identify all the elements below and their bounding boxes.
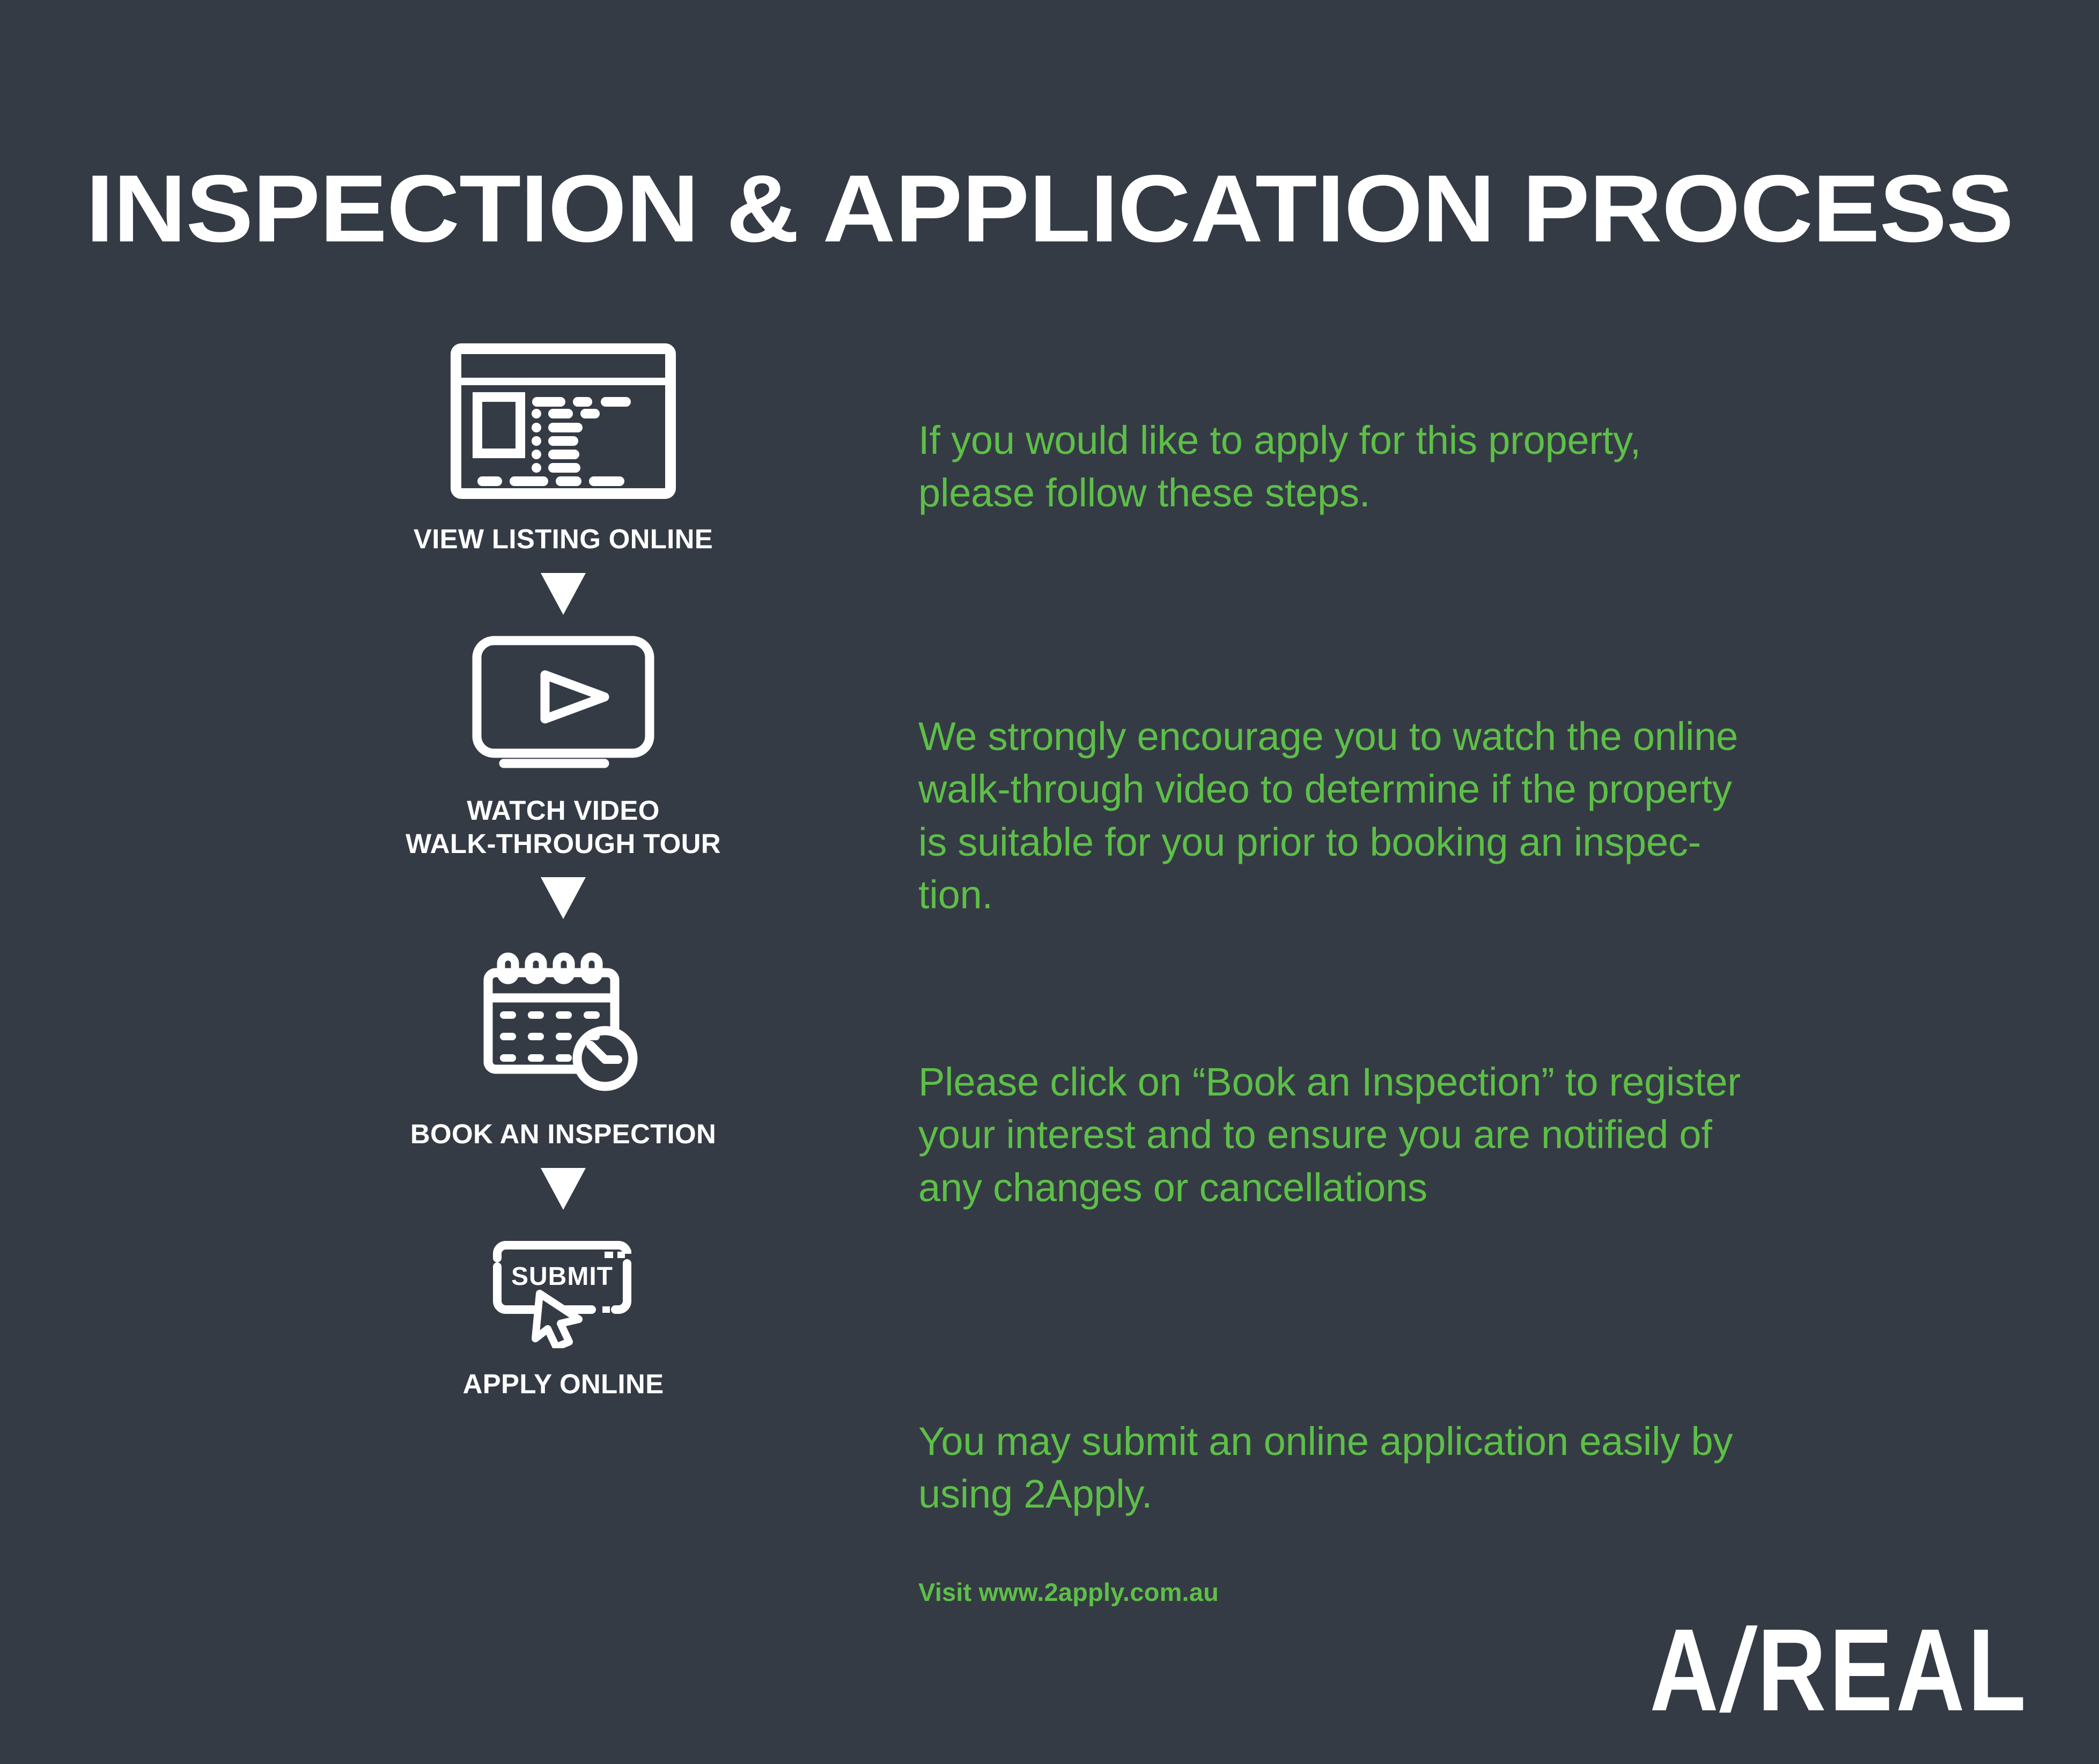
video-play-monitor-icon: [469, 633, 657, 773]
step-view-listing-online: VIEW LISTING ONLINE: [322, 343, 805, 556]
step-apply-online: SUBMIT APPLY ONLINE: [322, 1225, 805, 1401]
visit-url-line[interactable]: Visit www.2apply.com.au: [918, 1577, 1879, 1607]
connector-arrow-2: [322, 877, 805, 919]
step-label-watch-video: WATCH VIDEO WALK-THROUGH TOUR: [322, 794, 805, 861]
calendar-clock-icon: [472, 935, 654, 1096]
logo-word-real: REAL: [1757, 1605, 2029, 1736]
logo-letter-a: A: [1650, 1605, 1722, 1736]
down-triangle-arrow-icon: [541, 1168, 586, 1210]
infographic-poster: INSPECTION & APPLICATION PROCESS: [0, 0, 2099, 1764]
step-label-view-listing-online: VIEW LISTING ONLINE: [322, 523, 805, 556]
step-label-apply-online: APPLY ONLINE: [322, 1368, 805, 1401]
paragraph-book-inspection: Please click on “Book an Inspection” to …: [918, 1056, 1879, 1214]
connector-arrow-3: [322, 1168, 805, 1210]
paragraph-watch-video: We strongly encourage you to watch the o…: [918, 710, 1879, 922]
browser-listing-icon: [451, 343, 676, 499]
step-label-book-inspection: BOOK AN INSPECTION: [322, 1118, 805, 1151]
process-flow-column: VIEW LISTING ONLINE WATCH VIDEO WALK-THR…: [322, 343, 805, 1401]
down-triangle-arrow-icon: [541, 573, 586, 615]
step-book-inspection: BOOK AN INSPECTION: [322, 935, 805, 1151]
page-title: INSPECTION & APPLICATION PROCESS: [0, 161, 2099, 256]
brand-logo: A/REAL: [1650, 1612, 2029, 1729]
submit-icon-text: SUBMIT: [511, 1262, 613, 1291]
connector-arrow-1: [322, 573, 805, 615]
submit-button-cursor-icon: SUBMIT: [464, 1225, 662, 1348]
paragraph-view-listing: If you would like to apply for this prop…: [918, 414, 1879, 520]
step-watch-video: WATCH VIDEO WALK-THROUGH TOUR: [322, 633, 805, 861]
paragraph-apply-online: You may submit an online application eas…: [918, 1415, 1879, 1521]
down-triangle-arrow-icon: [541, 877, 586, 919]
